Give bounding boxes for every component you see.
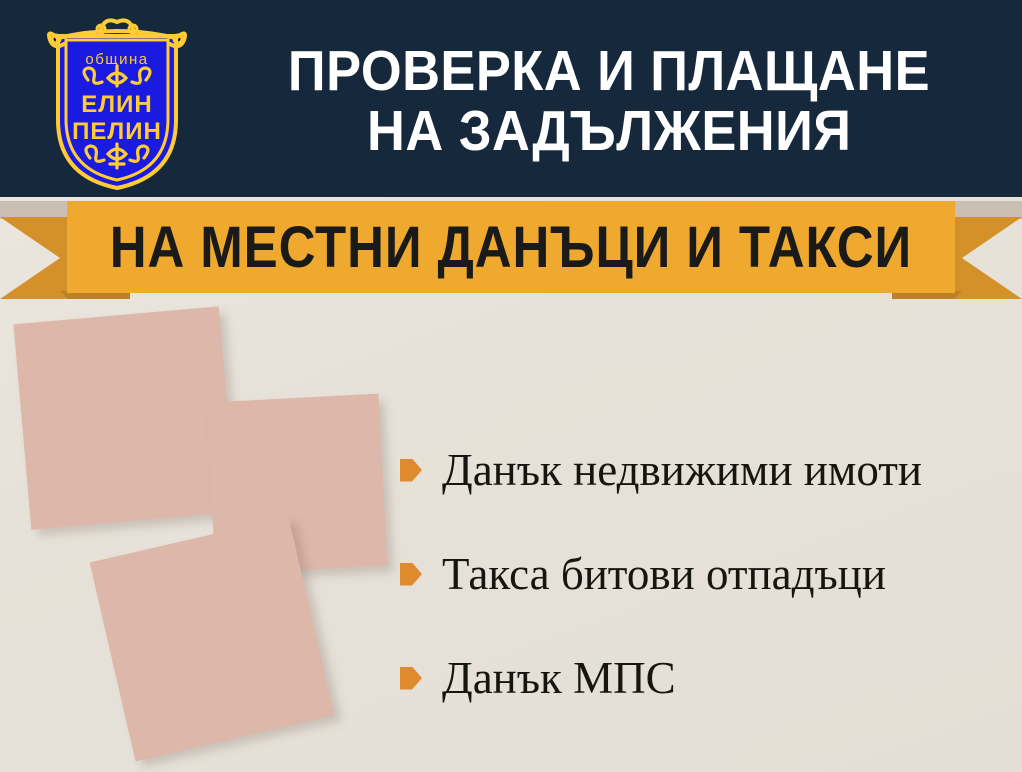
list-item[interactable]: Такса битови отпадъци: [400, 522, 1010, 626]
stamp-paper-vehicle: [120, 547, 305, 732]
subtitle-ribbon: НА МЕСТНИ ДАНЪЦИ И ТАКСИ: [0, 199, 1022, 299]
arrow-bullet-icon: [400, 459, 422, 482]
car-front-icon: [144, 577, 280, 701]
ribbon-fold-left: [0, 201, 70, 219]
list-item[interactable]: Данък недвижими имоти: [400, 418, 1010, 522]
municipality-logo: община ЕЛИН ПЕЛИН: [38, 8, 196, 192]
list-item-label: Такса битови отпадъци: [442, 552, 886, 597]
stamp-card-property: [13, 306, 236, 529]
tax-type-list: Данък недвижими имоти Такса битови отпад…: [400, 418, 1010, 730]
header-title-block: ПРОВЕРКА И ПЛАЩАНЕ НА ЗАДЪЛЖЕНИЯ: [196, 16, 1022, 186]
trash-can-icon: [251, 434, 344, 534]
coat-of-arms-icon: община ЕЛИН ПЕЛИН: [38, 8, 196, 192]
header-title-line-2: НА ЗАДЪЛЖЕНИЯ: [367, 102, 851, 160]
stamp-paper-property: [40, 333, 209, 502]
list-item-label: Данък МПС: [442, 656, 676, 701]
arrow-bullet-icon: [400, 563, 422, 586]
poster-canvas: община ЕЛИН ПЕЛИН: [0, 0, 1022, 772]
ribbon-fold-right: [952, 201, 1022, 219]
svg-text:ПЕЛИН: ПЕЛИН: [72, 118, 162, 145]
list-item-label: Данък недвижими имоти: [442, 448, 922, 493]
svg-text:ЕЛИН: ЕЛИН: [81, 91, 152, 118]
header-title-line-1: ПРОВЕРКА И ПЛАЩАНЕ: [288, 42, 930, 100]
list-item[interactable]: Данък МПС: [400, 626, 1010, 730]
house-icon: [63, 361, 188, 475]
arrow-bullet-icon: [400, 667, 422, 690]
ribbon-bar: НА МЕСТНИ ДАНЪЦИ И ТАКСИ: [67, 201, 955, 293]
poster-header: община ЕЛИН ПЕЛИН: [0, 0, 1022, 197]
ribbon-label: НА МЕСТНИ ДАНЪЦИ И ТАКСИ: [110, 214, 912, 281]
